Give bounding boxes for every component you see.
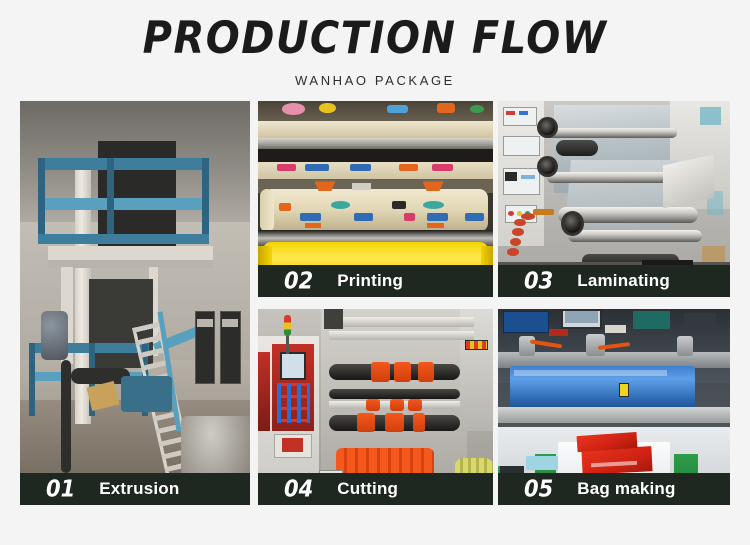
panel-extrusion-number: 01 — [46, 476, 75, 502]
panel-printing-caption: 02 Printing — [258, 265, 493, 297]
panel-bag-making-label: Bag making — [577, 479, 675, 499]
page-header: PRODUCTION FLOW WANHAO PACKAGE — [0, 0, 750, 88]
panel-printing-label: Printing — [337, 271, 403, 291]
panel-laminating-number: 03 — [524, 268, 553, 294]
panel-extrusion-caption: 01 Extrusion — [20, 473, 250, 505]
panel-cutting-caption: 04 Cutting — [258, 473, 493, 505]
panel-laminating[interactable]: 03 Laminating — [498, 101, 730, 297]
panel-cutting-label: Cutting — [337, 479, 398, 499]
page-title: PRODUCTION FLOW — [0, 14, 750, 63]
panel-bag-making[interactable]: 05 Bag making — [498, 309, 730, 505]
panel-laminating-caption: 03 Laminating — [498, 265, 730, 297]
panel-extrusion-label: Extrusion — [99, 479, 179, 499]
production-flow-grid: 01 Extrusion — [20, 101, 730, 505]
panel-extrusion[interactable]: 01 Extrusion — [20, 101, 250, 505]
panel-printing[interactable]: 02 Printing — [258, 101, 493, 297]
panel-printing-number: 02 — [284, 268, 313, 294]
page-subtitle: WANHAO PACKAGE — [0, 73, 750, 88]
panel-extrusion-photo — [20, 101, 250, 505]
panel-cutting[interactable]: 04 Cutting — [258, 309, 493, 505]
panel-bag-making-number: 05 — [524, 476, 553, 502]
panel-laminating-label: Laminating — [577, 271, 670, 291]
panel-bag-making-caption: 05 Bag making — [498, 473, 730, 505]
panel-cutting-number: 04 — [284, 476, 313, 502]
